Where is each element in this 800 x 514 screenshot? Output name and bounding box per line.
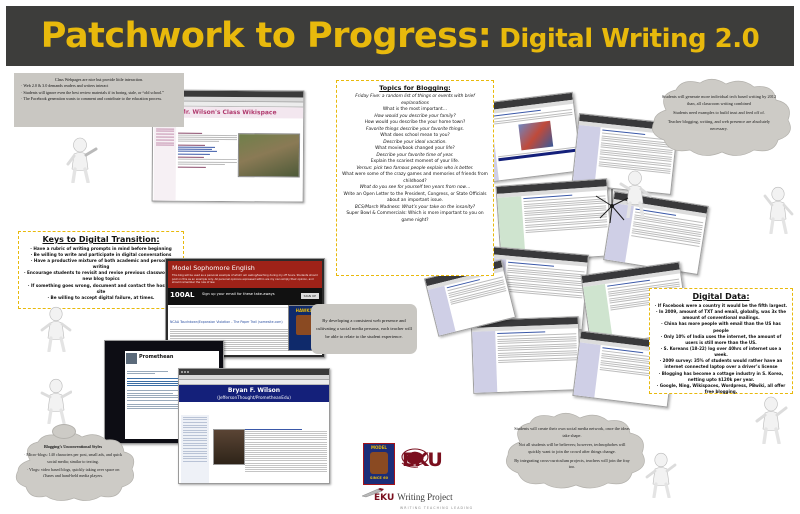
intro-line-text: Web 2.0 & 3.0 demands readers and writer… [23,83,108,88]
topic-item: Super Bowl & Commercials: Which is more … [341,211,489,224]
blog-ad-banner: 100AL Sign up your email for these take-… [168,288,322,305]
intro-line: · The Facebook generation wants to comme… [19,96,179,102]
mascot-figure-bottom-center [645,452,677,498]
topic-item: Write an Open Letter to the President, C… [341,192,489,205]
twitter-account-name: Promethean [139,354,173,360]
data-item-text: 2009 survey: 35% of students would rathe… [663,358,783,369]
key-item: · Encourage students to revisit and revi… [23,270,179,282]
cloud-bottom-center: Students will create their own social me… [492,412,652,490]
intro-callout-box: Class Webpages are nice but provide litt… [14,73,184,127]
callout-web-presence: By developing a consistent web presence … [311,304,417,354]
bryan-page-name: Bryan F. Wilson [179,385,329,395]
ad-copy: Sign up your email for these take-aways [202,292,275,296]
page-content [498,330,579,390]
keys-box-title: Keys to Digital Transition: [23,235,179,244]
writing-project-name: Writing Project [397,492,452,502]
key-item-text: If something goes wrong, document and co… [31,283,174,294]
key-item-text: Be willing to accept digital failure, at… [51,295,155,300]
keys-to-digital-transition-box: Keys to Digital Transition: · Have a rub… [18,231,184,309]
page-illustration [518,121,553,151]
data-item: · China has more people with email than … [654,321,788,333]
poster-canvas: Patchwork to Progress:Digital Writing 2.… [0,0,800,514]
key-item: · If something goes wrong, document and … [23,283,179,295]
cloud-line: Teacher blogging, writing, and web prese… [660,119,778,133]
bryan-page-body: Bryan F. Wilson (JeffersonThought/Promet… [179,385,329,484]
cloud-line: · Micro-blogs: 140 characters per post, … [23,452,123,465]
data-item: · 2009 survey: 35% of students would rat… [654,358,788,370]
intro-line-text: Students will ignore even the best revie… [23,90,164,95]
sidebar-banner-mascot [296,315,312,335]
cloud-line: Students will create their own social me… [514,426,630,440]
key-item-text: Be willing to write and participate in d… [34,252,172,257]
cloud-line: Students need examples to build trust an… [660,110,778,117]
logo-row: MODEL SINCE 60 EKU EKUWriting Project WR… [358,443,498,509]
cloud-line-text: Micro-blogs: 140 characters per post, sm… [26,452,122,463]
bryan-page-sidebar [181,415,209,484]
pen-icon [360,488,386,498]
data-item-text: S. Koreans (18-22) log over 40hrs of int… [664,346,782,357]
poster-title-main: Patchwork to Progress: [41,16,491,56]
eku-wordmark: EKU [402,449,442,471]
key-item: · Have a productive mixture of both acad… [23,258,179,270]
ad-logo: 100AL [170,291,195,299]
data-item: · Google, Ning, Wikispaces, Wordpress, P… [654,383,788,395]
topic-item: What were some of the crazy games and me… [341,172,489,185]
model-logo-bottom-text: SINCE 60 [364,476,394,480]
mascot-figure-top-left [66,137,100,183]
topics-for-blogging-box: Topics for Blogging: Friday Five: a rand… [336,80,494,276]
data-item-text: Only 10% of India uses the internet, the… [664,334,782,345]
blog-subtitle: This blog will be used as a personal exa… [172,274,318,285]
cloud-line: By integrating cross-curriculum projects… [514,458,630,472]
avatar [126,353,137,364]
screenshot-bryan-wilson-page: Bryan F. Wilson (JeffersonThought/Promet… [178,368,330,484]
cloud-line-text: Vlogs: video based blogs, quickly taking… [29,467,119,478]
wikispace-body-text [178,133,237,170]
ad-signup-button[interactable]: SIGN UP [301,293,319,299]
data-item-text: Blogging has become a cottage industry i… [662,371,783,382]
cloud-bottom-center-text: Students will create their own social me… [514,426,630,471]
cloud-line: Students will generate more individual t… [660,94,778,108]
cloud-top-right: Students will generate more individual t… [638,78,800,158]
model-lab-school-logo: MODEL SINCE 60 [363,443,395,485]
key-item-text: Have a rubric of writing prompts in mind… [33,246,171,251]
key-item-text: Encourage students to revisit and revise… [27,270,178,281]
eku-writing-project-logo: EKUWriting Project WRITING TEACHING LEAD… [374,487,504,510]
data-item-text: China has more people with email than th… [664,321,781,332]
data-item: · Only 10% of India uses the internet, t… [654,334,788,346]
cloud-line: · Vlogs: video based blogs, quickly taki… [23,467,123,480]
data-item: · S. Koreans (18-22) log over 40hrs of i… [654,346,788,358]
profile-photo [213,429,245,465]
data-item: · Blogging has become a cottage industry… [654,371,788,383]
cloud-bottom-left-text: Blogging’s Unconventional Styles · Micro… [23,444,123,480]
poster-title: Patchwork to Progress:Digital Writing 2.… [41,19,759,54]
cloud-line: Not all students will be believers; howe… [514,442,630,456]
data-item: · In 2009, amount of TXT and email, glob… [654,309,788,321]
callout-web-presence-text: By developing a consistent web presence … [316,317,412,340]
digital-data-box: Digital Data: · If Facebook were a count… [649,288,793,394]
data-box-title: Digital Data: [654,292,788,301]
mascot-figure-left-lower [40,306,72,352]
cloud-bubble-large [52,424,76,439]
poster-header-banner: Patchwork to Progress:Digital Writing 2.… [6,6,794,66]
bryan-page-content [245,429,327,484]
blog-title: Model Sophomore English [172,264,255,272]
mascot-figure-bottom-left [40,378,72,424]
window-control-dots [181,371,189,373]
topics-box-title: Topics for Blogging: [341,84,489,92]
pinwheel-graphic [594,188,630,224]
cloud-heading: Blogging’s Unconventional Styles [23,444,123,450]
page-sidebar [472,331,497,393]
topic-item: What do you see for yourself ten years f… [341,185,489,192]
blog-header: Model Sophomore English This blog will b… [168,261,322,288]
bryan-page-subtitle: (JeffersonThought/PrometheanEdu) [179,395,329,402]
screenshot-paper-7 [471,316,582,394]
cloud-top-right-text: Students will generate more individual t… [660,94,778,132]
mascot-figure-right-lower [754,396,788,444]
model-logo-top-text: MODEL [364,445,394,450]
blog-post-title[interactable]: NCAA Touchdown/Expansion Violation - The… [170,320,283,324]
key-item-text: Have a productive mixture of both academ… [34,258,171,269]
poster-title-sub: Digital Writing 2.0 [499,24,759,54]
wikispace-photo [238,133,300,177]
model-logo-mascot [370,452,388,474]
data-item-text: If Facebook were a country it would be t… [658,303,787,308]
data-item-text: In 2009, amount of TXT and email, global… [659,309,786,320]
mascot-figure-right-upper [762,186,794,234]
writing-project-tagline: WRITING TEACHING LEADING [400,506,504,510]
data-item-text: Google, Ning, Wikispaces, Wordpress, PBw… [660,383,786,394]
intro-line-text: The Facebook generation wants to comment… [23,96,162,101]
topic-item: Friday Five: a random list of things or … [341,94,489,107]
cloud-bottom-left: Blogging’s Unconventional Styles · Micro… [6,432,138,502]
browser-chrome-bar [179,369,329,375]
key-item: · Be willing to accept digital failure, … [23,295,179,301]
page-content [493,106,579,178]
